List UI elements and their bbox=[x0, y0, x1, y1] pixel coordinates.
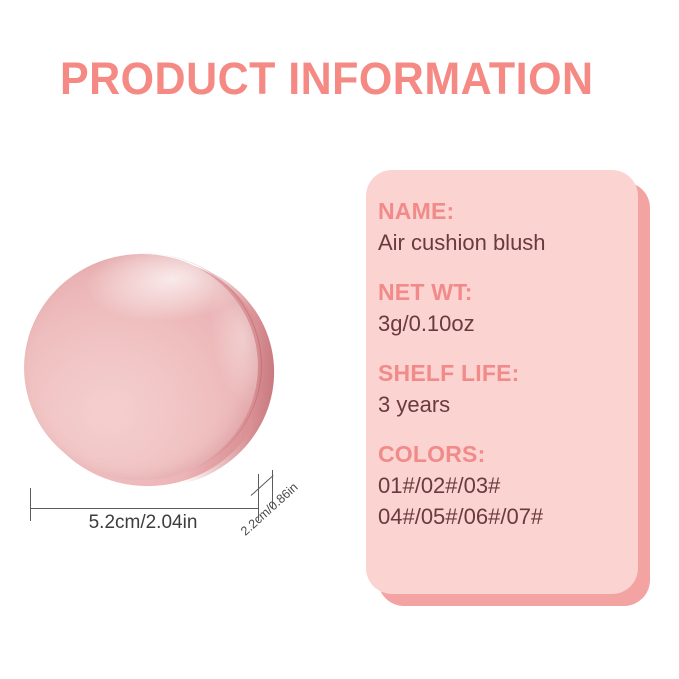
product-info-card-group: NAME: Air cushion blush NET WT: 3g/0.10o… bbox=[366, 170, 652, 608]
width-dimension-line bbox=[30, 508, 259, 509]
field-colors: COLORS: 01#/02#/03# 04#/05#/06#/07# bbox=[378, 439, 638, 532]
field-colors-value-line-1: 01#/02#/03# bbox=[378, 470, 638, 501]
field-net-weight-label: NET WT: bbox=[378, 277, 638, 308]
info-card: NAME: Air cushion blush NET WT: 3g/0.10o… bbox=[366, 170, 638, 594]
width-dimension-label: 5.2cm/2.04in bbox=[68, 512, 218, 534]
field-net-weight: NET WT: 3g/0.10oz bbox=[378, 277, 638, 339]
page-title: PRODUCT INFORMATION bbox=[60, 54, 595, 104]
field-name-value: Air cushion blush bbox=[378, 227, 638, 258]
width-dimension-tick-left bbox=[30, 488, 31, 521]
field-net-weight-value: 3g/0.10oz bbox=[378, 308, 638, 339]
field-shelf-life-value: 3 years bbox=[378, 389, 638, 420]
field-shelf-life: SHELF LIFE: 3 years bbox=[378, 358, 638, 420]
field-name-label: NAME: bbox=[378, 196, 638, 227]
field-colors-value-line-2: 04#/05#/06#/07# bbox=[378, 501, 638, 532]
product-information-graphic: PRODUCT INFORMATION 5.2cm/2.04in 2.2cm/0… bbox=[0, 0, 679, 679]
field-shelf-life-label: SHELF LIFE: bbox=[378, 358, 638, 389]
field-colors-label: COLORS: bbox=[378, 439, 638, 470]
field-name: NAME: Air cushion blush bbox=[378, 196, 638, 258]
